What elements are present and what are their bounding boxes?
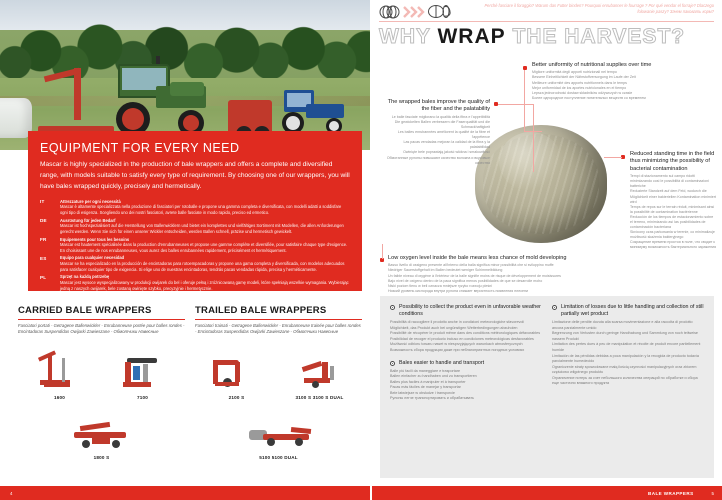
callout-body: Basso livello di ossigeno presente all'i… xyxy=(388,263,608,294)
left-page: EQUIPMENT FOR EVERY NEED Mascar is highl… xyxy=(0,0,370,500)
callout-nutritional-uniformity: Better uniformity of nutritional supplie… xyxy=(532,62,718,101)
page-number-right: 5 xyxy=(694,491,722,496)
panel-lead-text: Mascar is highly specialized in the prod… xyxy=(40,160,350,193)
footer-left: 4 xyxy=(0,486,370,500)
machine-illustration-5100 xyxy=(195,410,362,454)
model-name: 2100 S xyxy=(195,395,278,400)
callout-leader-nutritional-h xyxy=(524,131,542,132)
category-title: TRAILED BALE WRAPPERS xyxy=(195,305,362,316)
model-name: 1800 S xyxy=(18,455,185,460)
footer-right: BALE WRAPPERS 5 xyxy=(372,486,722,500)
brochure-spread: EQUIPMENT FOR EVERY NEED Mascar is highl… xyxy=(0,0,722,500)
callout-heading: The wrapped bales improve the quality of… xyxy=(384,99,490,114)
callout-body: Le balle fasciate migliorano la qualità … xyxy=(384,115,490,166)
hero-photo-tractor-bale-wrapper xyxy=(0,0,370,150)
wrapped-bale-photo xyxy=(475,125,607,243)
bale-roll-icon xyxy=(379,5,401,19)
callout-leader-standing-time xyxy=(604,157,622,158)
category-subtitle: Fasciatori portati - Getragene Ballenwic… xyxy=(18,323,185,336)
callout-leader-fiber-quality xyxy=(498,104,534,105)
round-baler xyxy=(228,100,272,134)
lang-body: Mascar se ha especializado en la producc… xyxy=(60,261,344,272)
page-number-left: 4 xyxy=(0,491,12,496)
panel-heading: EQUIPMENT FOR EVERY NEED xyxy=(40,141,350,155)
callout-leader-low-oxygen xyxy=(382,244,383,259)
model-gallery: 1600 7100 xyxy=(18,350,362,460)
machine-illustration-3100s xyxy=(278,350,361,394)
chevron-right-icon xyxy=(403,6,425,18)
blue-tractor xyxy=(276,90,352,134)
benefit-title: Bales easier to handle and transport xyxy=(399,360,484,367)
callout-heading: Better uniformity of nutritional supplie… xyxy=(532,62,718,69)
lang-text: Equipo para cualquier necesidad Mascar s… xyxy=(60,255,350,272)
callout-heading: Reduced standing time in the field thus … xyxy=(630,151,716,173)
model-item[interactable]: 5100 5100 DUAL xyxy=(195,410,362,460)
header-divider xyxy=(379,21,714,22)
lang-code: FR xyxy=(40,237,54,254)
bullet-icon xyxy=(390,361,395,366)
benefit-item: Limitation of losses due to little handl… xyxy=(552,304,704,387)
benefit-body: Balle più facili da maneggiare e traspor… xyxy=(390,369,542,402)
lang-body: Mascar ist hochspezialisiert auf die Her… xyxy=(60,223,344,234)
bale-wrapper-implement xyxy=(38,68,116,138)
lang-body: Mascar è altamente specializzata nella p… xyxy=(60,204,341,215)
lang-row-de: DE Ausrüstung für jeden Bedarf Mascar is… xyxy=(40,218,350,235)
machine-illustration-1800s xyxy=(18,410,185,454)
lang-code: PL xyxy=(40,274,54,291)
lang-code: DE xyxy=(40,218,54,235)
benefit-header: Limitation of losses due to little handl… xyxy=(552,304,704,318)
machine-illustration-1600 xyxy=(18,350,101,394)
callout-reduced-standing-time: Reduced standing time in the field thus … xyxy=(630,151,716,251)
callout-heading: Low oxygen level inside the bale means l… xyxy=(388,255,608,262)
model-name: 5100 5100 DUAL xyxy=(195,455,362,460)
equipment-panel: EQUIPMENT FOR EVERY NEED Mascar is highl… xyxy=(28,131,362,291)
machine-illustration-7100 xyxy=(101,350,184,394)
lang-text: Sprzęt na każdą potrzebę Mascar jest wys… xyxy=(60,274,350,291)
lang-code: IT xyxy=(40,199,54,216)
model-name: 7100 xyxy=(101,395,184,400)
callout-body: Tempi di stazionamento sul campo ridotti… xyxy=(630,174,716,250)
benefits-column-left: Possibility to collect the product even … xyxy=(390,304,542,470)
benefit-title: Limitation of losses due to little handl… xyxy=(561,304,704,318)
trailed-models: 2100 S 3100 S 3100 S DUAL xyxy=(195,350,362,460)
model-name: 1600 xyxy=(18,395,101,400)
model-name: 3100 S 3100 S DUAL xyxy=(278,395,361,400)
lang-text: Equipements pour tous les besoins Mascar… xyxy=(60,237,350,254)
benefits-box: Possibility to collect the product even … xyxy=(380,296,714,478)
title-part-2: THE HARVEST? xyxy=(512,25,685,48)
divider xyxy=(195,319,362,321)
title-part-bold: WRAP xyxy=(437,25,505,48)
category-carried: CARRIED BALE WRAPPERS Fasciatori portati… xyxy=(18,305,185,336)
model-item[interactable]: 1800 S xyxy=(18,410,185,460)
page-title: WHY WRAP THE HARVEST? xyxy=(379,26,685,47)
benefit-item: Possibility to collect the product even … xyxy=(390,304,542,354)
benefit-body: Possibilità di raccogliere il prodotto a… xyxy=(390,320,542,353)
top-questions-text: Perché fasciare il foraggio? Warum das F… xyxy=(468,3,714,16)
footer-section-label: BALE WRAPPERS xyxy=(648,491,694,496)
callout-leader-nutritional xyxy=(524,70,525,132)
lang-body: Mascar jest wysoce wyspecjalizowany w pr… xyxy=(60,280,349,291)
callout-low-oxygen: Low oxygen level inside the bale means l… xyxy=(388,255,608,294)
category-title: CARRIED BALE WRAPPERS xyxy=(18,305,185,316)
lang-code: ES xyxy=(40,255,54,272)
title-part-1: WHY xyxy=(379,25,437,48)
benefit-header: Possibility to collect the product even … xyxy=(390,304,542,318)
benefit-title: Possibility to collect the product even … xyxy=(399,304,542,318)
benefit-item: Bales easier to handle and transport Bal… xyxy=(390,360,542,402)
category-subtitle: Fasciatori trainati - Getragene Ballenwi… xyxy=(195,323,362,336)
lang-row-pl: PL Sprzęt na każdą potrzebę Mascar jest … xyxy=(40,274,350,291)
model-item[interactable]: 7100 xyxy=(101,350,184,400)
bullet-icon xyxy=(390,305,395,310)
wrap-process-icons xyxy=(379,4,453,19)
benefit-header: Bales easier to handle and transport xyxy=(390,360,542,367)
lang-row-fr: FR Equipements pour tous les besoins Mas… xyxy=(40,237,350,254)
callout-leader-fiber-quality-v xyxy=(533,104,534,172)
model-item[interactable]: 3100 S 3100 S DUAL xyxy=(278,350,361,400)
model-item[interactable]: 2100 S xyxy=(195,350,278,400)
bullet-icon xyxy=(552,305,557,310)
language-list: IT Attrezzature per ogni necessità Masca… xyxy=(40,199,350,311)
lang-row-es: ES Equipo para cualquier necesidad Masca… xyxy=(40,255,350,272)
machine-illustration-2100s xyxy=(195,350,278,394)
divider xyxy=(18,319,185,321)
benefits-column-right: Limitation of losses due to little handl… xyxy=(552,304,704,470)
lang-text: Ausrüstung für jeden Bedarf Mascar ist h… xyxy=(60,218,350,235)
lang-body: Mascar est hautement spécialisée dans la… xyxy=(60,242,347,253)
wrapped-bale-icon xyxy=(427,4,453,19)
carried-models: 1600 7100 xyxy=(18,350,185,460)
callout-body: Migliore uniformità degli apporti nutriz… xyxy=(532,70,718,101)
callout-fiber-quality: The wrapped bales improve the quality of… xyxy=(384,99,490,166)
product-category-headers: CARRIED BALE WRAPPERS Fasciatori portati… xyxy=(18,305,362,336)
benefit-body: Limitazione delle perdite dovuta alla sc… xyxy=(552,320,704,387)
model-item[interactable]: 1600 xyxy=(18,350,101,400)
lang-row-it: IT Attrezzature per ogni necessità Masca… xyxy=(40,199,350,216)
lang-text: Attrezzature per ogni necessità Mascar è… xyxy=(60,199,350,216)
category-trailed: TRAILED BALE WRAPPERS Fasciatori trainat… xyxy=(195,305,362,336)
